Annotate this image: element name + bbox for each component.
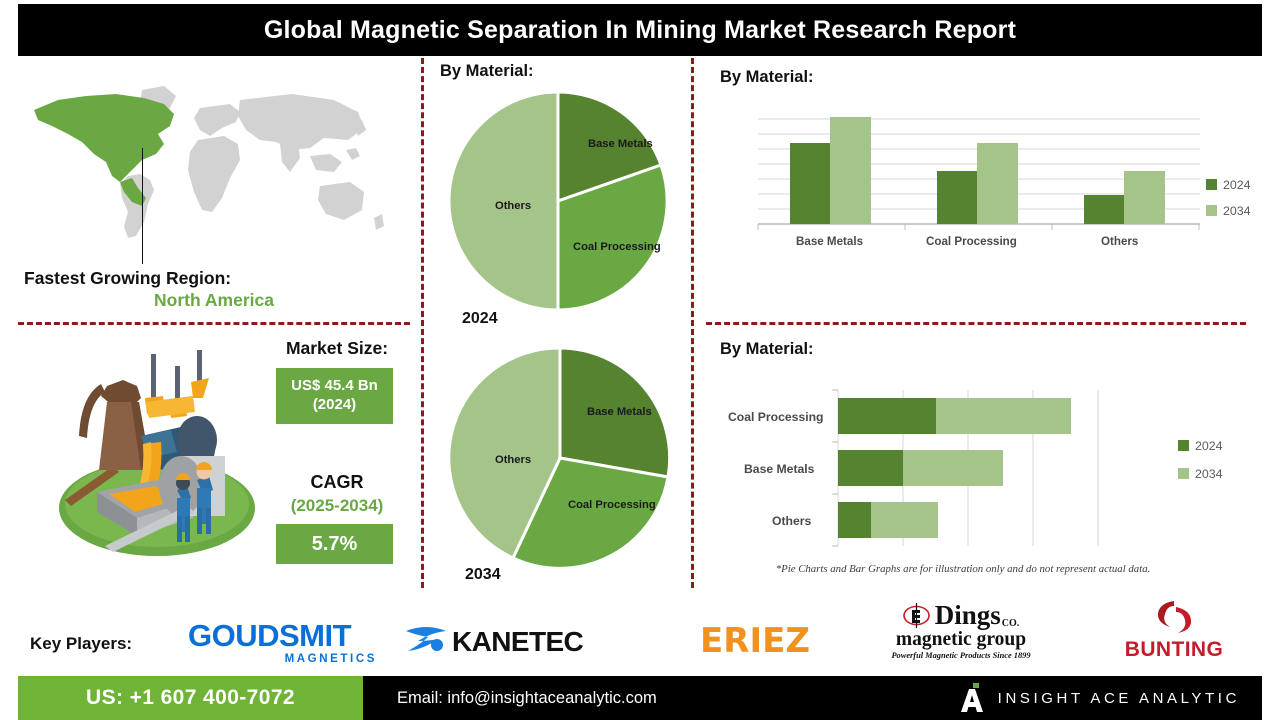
hbar-2034-others: [871, 502, 938, 538]
hbar-2024-coal: [838, 398, 936, 434]
pie-chart-2024: Base Metals Coal Processing Others: [443, 86, 673, 316]
infographic-page: Global Magnetic Separation In Mining Mar…: [0, 0, 1280, 720]
vbar-legend-swatch-2024: [1206, 179, 1217, 190]
footer-phone[interactable]: US: +1 607 400-7072: [18, 676, 363, 720]
horizontal-divider-right: [706, 322, 1246, 325]
market-size-value: US$ 45.4 Bn: [291, 377, 378, 396]
dings-co-suffix: CO.: [1002, 618, 1020, 629]
pie-chart-2034: Base Metals Coal Processing Others: [440, 344, 680, 580]
footer-brand: INSIGHT ACE ANALYTIC: [959, 683, 1240, 713]
page-title: Global Magnetic Separation In Mining Mar…: [264, 16, 1016, 45]
logo-dings: Dings CO. magnetic group Powerful Magnet…: [866, 598, 1056, 664]
vbar-legend-swatch-2034: [1206, 205, 1217, 216]
vbar-xtick-base-metals: Base Metals: [796, 235, 863, 248]
dings-group-text: magnetic group: [896, 629, 1026, 650]
logo-eriez: ERIEZ: [680, 620, 830, 662]
fastest-region-value: North America: [24, 290, 404, 311]
market-size-year: (2024): [313, 396, 356, 415]
world-map: [24, 78, 404, 258]
hbar-legend-swatch-2034: [1178, 468, 1189, 479]
vertical-divider-right: [691, 58, 694, 588]
footer-email[interactable]: Email: info@insightaceanalytic.com: [397, 689, 657, 708]
insightace-logo-icon: [959, 683, 985, 713]
fastest-region-label: Fastest Growing Region:: [24, 268, 404, 289]
dings-tagline: Powerful Magnetic Products Since 1899: [891, 651, 1030, 660]
pie-2024-label-coal: Coal Processing: [573, 241, 661, 253]
horizontal-bar-chart: Coal Processing Base Metals Others 2024 …: [700, 378, 1260, 563]
pie-2024-label-others: Others: [495, 200, 531, 212]
hbar-ytick-base-metals: Base Metals: [744, 462, 815, 476]
hbar-ytick-coal: Coal Processing: [728, 410, 824, 424]
pie-2034-year: 2034: [465, 566, 501, 584]
eriez-wordmark: ERIEZ: [700, 621, 810, 661]
vbar-xtick-others: Others: [1101, 235, 1138, 248]
bar-2034-coal: [977, 143, 1018, 224]
goudsmit-tagline: MAGNETICS: [285, 653, 377, 665]
map-pointer-line: [142, 148, 143, 264]
bar-2034-base-metals: [830, 117, 871, 224]
bar-2024-base-metals: [790, 143, 830, 224]
pie-2024-title: By Material:: [440, 62, 534, 81]
chart-footnote: *Pie Charts and Bar Graphs are for illus…: [728, 563, 1198, 575]
vbar-legend-label-2034: 2034: [1223, 204, 1251, 218]
cagr-period: (2025-2034): [262, 496, 412, 516]
dings-wordmark: Dings: [935, 603, 1001, 629]
logo-bunting: BUNTING: [1104, 598, 1244, 664]
goudsmit-wordmark: GOUDSMIT: [188, 620, 351, 651]
vbar-legend-label-2024: 2024: [1223, 178, 1251, 192]
market-size-label: Market Size:: [262, 338, 412, 359]
pie-2034-label-base-metals: Base Metals: [587, 406, 652, 418]
market-size-value-box: US$ 45.4 Bn (2024): [276, 368, 393, 424]
hbar-2034-base-metals: [903, 450, 1003, 486]
logo-goudsmit: GOUDSMIT MAGNETICS: [162, 618, 377, 666]
mining-illustration: [45, 340, 265, 565]
bunting-mark-icon: [1154, 600, 1194, 634]
hbar-2024-base-metals: [838, 450, 903, 486]
bar-2024-others: [1084, 195, 1124, 224]
key-players-label: Key Players:: [30, 634, 132, 654]
vbar-title: By Material:: [720, 68, 814, 87]
pie-2024-label-base-metals: Base Metals: [588, 138, 653, 150]
vertical-bar-chart: Base Metals Coal Processing Others 2024 …: [700, 105, 1260, 265]
pie-2034-label-coal: Coal Processing: [568, 499, 656, 511]
hbar-2034-coal: [936, 398, 1071, 434]
footer-brand-text: INSIGHT ACE ANALYTIC: [998, 690, 1240, 707]
bar-2024-coal: [937, 171, 977, 224]
logo-kanetec: KANETEC: [404, 622, 632, 662]
header-bar: Global Magnetic Separation In Mining Mar…: [18, 4, 1262, 56]
pie-2024-year: 2024: [462, 310, 498, 328]
kanetec-wordmark: KANETEC: [452, 626, 583, 658]
cagr-value-box: 5.7%: [276, 524, 393, 564]
kanetec-swoosh-icon: [404, 625, 450, 659]
pie-2034-label-others: Others: [495, 454, 531, 466]
footer-bar: US: +1 607 400-7072 Email: info@insighta…: [18, 676, 1262, 720]
dings-magnet-icon: [903, 602, 930, 629]
cagr-value: 5.7%: [312, 533, 358, 556]
hbar-legend-label-2024: 2024: [1195, 439, 1223, 453]
hbar-2024-others: [838, 502, 871, 538]
hbar-ytick-others: Others: [772, 514, 812, 528]
cagr-label: CAGR: [262, 472, 412, 493]
horizontal-divider-left: [18, 322, 410, 325]
hbar-title: By Material:: [720, 340, 814, 359]
hbar-legend-label-2034: 2034: [1195, 467, 1223, 481]
bar-2034-others: [1124, 171, 1165, 224]
vbar-xtick-coal: Coal Processing: [926, 235, 1017, 248]
hbar-legend-swatch-2024: [1178, 440, 1189, 451]
vertical-divider-left: [421, 58, 424, 588]
bunting-wordmark: BUNTING: [1125, 638, 1223, 662]
